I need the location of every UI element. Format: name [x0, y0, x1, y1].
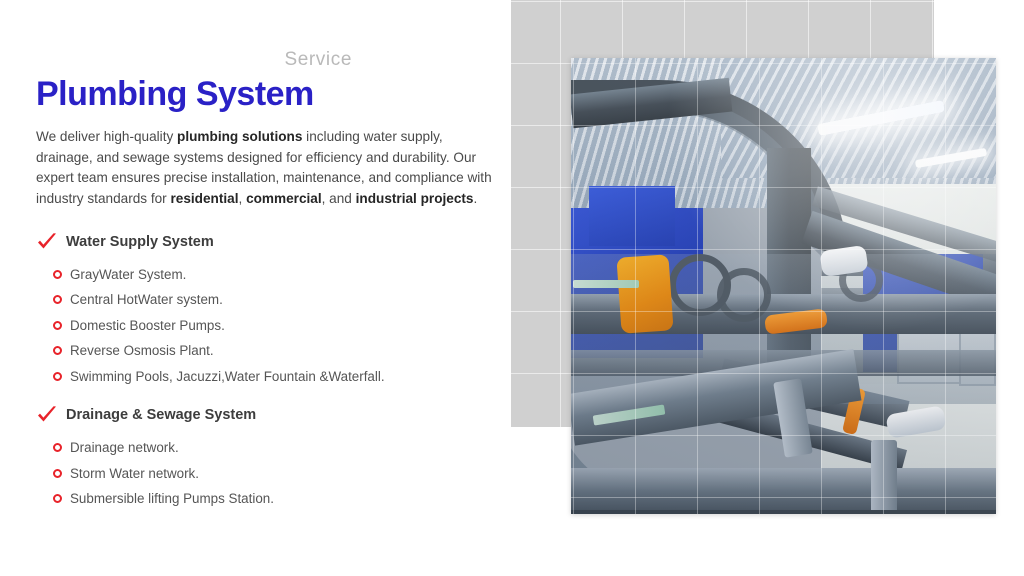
section-spacer — [36, 389, 510, 401]
list-item-label: Central HotWater system. — [70, 292, 223, 307]
photo-grid-overlay — [571, 58, 996, 514]
eyebrow-label: Service — [36, 50, 352, 69]
intro-text-1: We deliver high-quality — [36, 129, 177, 144]
list-item-label: Swimming Pools, Jacuzzi,Water Fountain &… — [70, 369, 385, 384]
list-item: Reverse Osmosis Plant. — [53, 338, 510, 364]
bullet-ring-icon — [53, 372, 62, 381]
page-title: Plumbing System — [36, 75, 510, 113]
bullet-ring-icon — [53, 346, 62, 355]
intro-bold-2: residential — [171, 191, 239, 206]
list-water-supply: GrayWater System. Central HotWater syste… — [36, 262, 510, 390]
intro-bold-3: commercial — [246, 191, 322, 206]
list-item: Central HotWater system. — [53, 287, 510, 313]
content-column: Service Plumbing System We deliver high-… — [0, 0, 510, 576]
section-heading-water-supply: Water Supply System — [36, 232, 510, 252]
list-item: Domestic Booster Pumps. — [53, 313, 510, 339]
list-item: GrayWater System. — [53, 262, 510, 288]
bullet-ring-icon — [53, 295, 62, 304]
check-icon — [36, 405, 58, 425]
list-item-label: GrayWater System. — [70, 267, 186, 282]
check-icon — [36, 232, 58, 252]
plumbing-photo — [571, 58, 996, 514]
bullet-ring-icon — [53, 443, 62, 452]
intro-text-4: , and — [322, 191, 356, 206]
list-item: Storm Water network. — [53, 461, 510, 487]
list-drainage-sewage: Drainage network. Storm Water network. S… — [36, 435, 510, 512]
list-item: Swimming Pools, Jacuzzi,Water Fountain &… — [53, 364, 510, 390]
list-item: Submersible lifting Pumps Station. — [53, 486, 510, 512]
list-item: Drainage network. — [53, 435, 510, 461]
bullet-ring-icon — [53, 494, 62, 503]
bullet-ring-icon — [53, 469, 62, 478]
list-item-label: Domestic Booster Pumps. — [70, 318, 225, 333]
list-item-label: Reverse Osmosis Plant. — [70, 343, 214, 358]
list-item-label: Storm Water network. — [70, 466, 199, 481]
list-item-label: Submersible lifting Pumps Station. — [70, 491, 274, 506]
intro-bold-4: industrial projects — [356, 191, 474, 206]
section-heading-drainage-sewage: Drainage & Sewage System — [36, 405, 510, 425]
intro-paragraph: We deliver high-quality plumbing solutio… — [36, 127, 496, 210]
intro-bold-1: plumbing solutions — [177, 129, 302, 144]
section-title-text: Drainage & Sewage System — [66, 407, 256, 423]
bullet-ring-icon — [53, 270, 62, 279]
intro-text-3: , — [239, 191, 247, 206]
bullet-ring-icon — [53, 321, 62, 330]
section-title-text: Water Supply System — [66, 234, 214, 250]
intro-text-5: . — [473, 191, 477, 206]
list-item-label: Drainage network. — [70, 440, 179, 455]
